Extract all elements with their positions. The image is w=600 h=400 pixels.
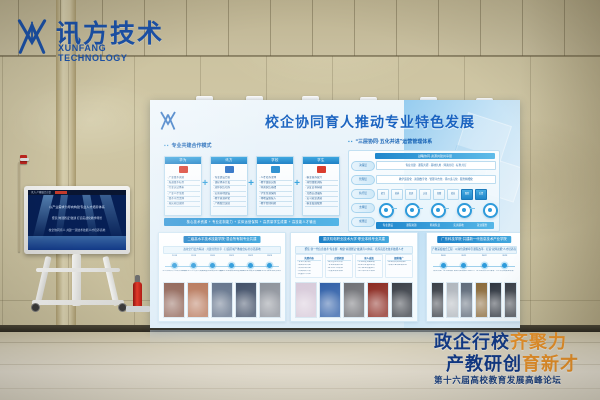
case-column-item: · 质量评价共担 <box>297 273 321 276</box>
plus-icon: + <box>201 180 209 188</box>
case-subtitle: 聚焦“新一代信息技术”专业群 · 构建“岗课赛证”融通育人体系 · 培养高层次技… <box>295 246 413 254</box>
cooperation-model-footer: 核心技术资源 + 专业定制能力 + 实体运营保障 + 高质量学生成果 + 高技能… <box>164 218 339 226</box>
ops-footer-tabs: 专业建设课程资源师资队伍实训基地就业服务 <box>376 222 494 229</box>
timeline-year: 2019 <box>191 255 196 257</box>
stand-base-bar <box>32 300 124 305</box>
display-screen[interactable]: 讯方·产教融合方案 以产业需求为导向构建专业人才培养体系 聚焦“岗课赛证”融通 … <box>28 190 126 250</box>
ops-chip-2: 实训 <box>405 189 417 200</box>
ops-row-label-3: 支撑层 <box>351 203 375 213</box>
wall-seam <box>312 0 313 56</box>
timeline-year: 2022 <box>248 255 253 257</box>
timeline-year: 2022 <box>482 255 487 257</box>
case-photo <box>475 282 488 318</box>
slogan-line-2: 产教研创育新才 <box>446 350 579 376</box>
bullet-dots-icon: ▪▪ <box>348 139 354 145</box>
screen-accent-block <box>55 191 67 194</box>
ops-bar-0: 专业共建 · 课程共研 · 基地共用 · 师资共培 · 标准共订 <box>376 161 496 170</box>
wall-seam <box>564 0 565 56</box>
student-icon <box>303 164 339 175</box>
timeline-node <box>191 263 196 268</box>
ops-footer-tab: 课程资源 <box>400 222 424 229</box>
ops-node-1 <box>405 203 420 218</box>
timeline-year: 2023 <box>502 255 507 257</box>
case-timeline: 2020校企共建产业学院揭牌2021首批共建课程上线运行2022产业学院实训中心… <box>433 255 515 277</box>
mode-column-header: 学校 <box>257 157 293 164</box>
stand-center-post <box>72 254 81 306</box>
case-photo <box>211 282 233 318</box>
ops-row-label-2: 执行层 <box>351 189 375 199</box>
timeline-year: 2021 <box>229 255 234 257</box>
screen-stage-glow <box>28 236 126 250</box>
ops-top-bar: 战略协同·资源共建共享层 <box>375 153 495 159</box>
wall-seam <box>228 0 229 56</box>
board-xunfang-logo-icon <box>158 110 178 132</box>
case-photo <box>235 282 257 318</box>
slogan-subtitle: 第十六届高校教育发展高峰论坛 <box>434 374 561 386</box>
case-subtitle: 产教深度融合工程 · 以岗位需求牵引课程改革 · 打造“双师双能”人才培养高地 <box>431 246 517 254</box>
wall-seam <box>522 0 523 56</box>
case-photo <box>431 282 444 318</box>
wall-seam <box>186 0 187 56</box>
case-column: 育人成效· 学生技能竞赛获奖· 职业认证通过率高· 对口就业质量提升· 用人单位… <box>355 254 383 278</box>
case-panel-1[interactable]: 重庆机电职业技术大学·职业本科专业共建聚焦“新一代信息技术”专业群 · 构建“岗… <box>290 232 418 322</box>
wall-seam <box>438 0 439 56</box>
case-photo <box>163 282 185 318</box>
ops-row-label-1: 管理层 <box>351 175 375 185</box>
case-photo <box>259 282 281 318</box>
case-photo <box>343 282 365 318</box>
case-photo <box>446 282 459 318</box>
mode-column-0: 华为· 产业技术资源· 先进技术标准· 行业认证体系· 产业人才生态· 技术平台… <box>164 156 202 216</box>
wall-seam <box>396 0 397 56</box>
alarm-plate <box>20 158 29 161</box>
ops-bar-1: 教学运营化 · 资源数字化 · 管理平台化 · 评价多元化 · 服务精细化 <box>376 175 496 184</box>
ops-row-label-4: 成果层 <box>351 217 375 227</box>
case-photo-strip <box>163 282 281 318</box>
timeline-node <box>172 263 177 268</box>
case-column-item: · 用人单位评价良好 <box>357 270 381 273</box>
case-photo <box>489 282 502 318</box>
case-title: 广东科技学院·共建新一代信息技术产业学院 <box>437 236 511 243</box>
fire-extinguisher-icon <box>133 282 142 308</box>
section-heading-right: ▪▪“三层协同·五化并进”运营管理体系 <box>348 138 432 145</box>
mode-item: · 产教融合运营 <box>213 202 246 207</box>
case-column: 运营机制· 联合管理委员会· 专业建设指导组· 教学运行例会制· 年度考核评估制 <box>325 254 353 278</box>
case-photo <box>504 282 517 318</box>
mode-column-3: 学生· 职业素养提升· 岗位技能训练· 认证证书获取· 竞赛实战锻炼· 实习就业… <box>302 156 340 216</box>
screen-header-text: 讯方·产教融合方案 <box>31 190 51 195</box>
screen-line-2: 聚焦“岗课赛证”融通 打造实战化教学场景 <box>28 216 126 220</box>
fire-extinguisher-base <box>126 306 150 312</box>
stand-caster-left <box>31 303 40 312</box>
ops-node-4 <box>483 203 498 218</box>
screen-title-bar: 讯方·产教融合方案 <box>28 190 126 195</box>
ops-chip-1: 培养 <box>391 189 403 200</box>
case-photo-strip <box>431 282 517 318</box>
stand-crossbar <box>36 268 120 272</box>
ops-node-3 <box>457 203 472 218</box>
ops-node-0 <box>379 203 394 218</box>
wall-seam <box>2 56 3 330</box>
wall-seam <box>270 0 271 56</box>
case-photo <box>391 282 413 318</box>
case-title: 重庆机电职业技术大学·职业本科专业共建 <box>319 236 389 243</box>
ops-row-label-0: 决策层 <box>351 161 375 171</box>
case-photo <box>460 282 473 318</box>
ops-footer-tab: 就业服务 <box>470 222 494 229</box>
ops-chip-3: 认证 <box>419 189 431 200</box>
wall-seam <box>354 0 355 56</box>
ops-node-2 <box>431 203 446 218</box>
case-photo <box>319 282 341 318</box>
wall-seam <box>480 0 481 56</box>
ops-chip-4: 竞赛 <box>433 189 445 200</box>
timeline-node <box>461 263 466 268</box>
timeline-node <box>267 263 272 268</box>
conduit-line <box>18 162 20 252</box>
timeline-node <box>229 263 234 268</box>
ops-connector <box>444 208 449 209</box>
timeline-year: 2023 <box>267 255 272 257</box>
timeline-node <box>248 263 253 268</box>
wall-logo-en: XUNFANG TECHNOLOGY <box>58 43 164 63</box>
board-title: 校企协同育人推动专业特色发展 <box>250 112 490 132</box>
case-photo <box>367 282 389 318</box>
case-title: 二级高水平技术技能学院·混合所有制专业共建 <box>184 236 261 243</box>
case-panel-0[interactable]: 二级高水平技术技能学院·混合所有制专业共建政校企行四方联动 · 共建共管共享 ·… <box>158 232 286 322</box>
case-column-item: · 形成可复制建设范式 <box>387 264 411 267</box>
mode-column-header: 华为 <box>165 157 201 164</box>
timeline-note: 毕业生对口就业率稳步提升 <box>257 270 283 277</box>
mode-item: · 职业发展规划 <box>305 202 338 207</box>
case-subtitle: 政校企行四方联动 · 共建共管共享 · 打造区域产教融合标杆示范基地 <box>163 246 281 254</box>
wall-brand-logo: 讯方技术 XUNFANG TECHNOLOGY <box>14 16 164 58</box>
case-column-item: · 年度考核评估制 <box>327 270 351 273</box>
timeline-year: 2020 <box>210 255 215 257</box>
timeline-year: 2018 <box>172 255 177 257</box>
case-photo <box>187 282 209 318</box>
case-photo-strip <box>295 282 413 318</box>
operations-system-diagram: 战略协同·资源共建共享层 决策层管理层执行层支撑层成果层专业共建 · 课程共研 … <box>348 150 500 232</box>
case-photo <box>295 282 317 318</box>
cooperation-model-diagram: 华为· 产业技术资源· 先进技术标准· 行业认证体系· 产业人才生态· 技术平台… <box>164 156 339 224</box>
school-building-icon <box>257 164 293 175</box>
wall-shadow-right <box>520 0 600 330</box>
section-heading-left: ▪▪专业共建合作模式 <box>164 142 212 149</box>
ops-footer-tab: 实训基地 <box>447 222 471 229</box>
screen-line-3: 校企协同育人 共建一流技术技能人才培养高地 <box>28 228 126 232</box>
timeline-year: 2021 <box>461 255 466 257</box>
exhibition-board[interactable]: 校企协同育人推动专业特色发展 ▪▪专业共建合作模式 ▪▪“三层协同·五化并进”运… <box>150 100 520 328</box>
case-column: 辐射推广· 经验向同类院校推广· 形成可复制建设范式 <box>385 254 413 278</box>
case-column: 共建内容· 专业方案共研· 课程体系共建· 实训环境共投· 师资团队共育· 质量… <box>295 254 323 278</box>
ops-chip-5: 就业 <box>447 189 459 200</box>
timeline-node <box>441 263 446 268</box>
ops-connector <box>392 208 397 209</box>
mode-column-header: 讯方 <box>211 157 247 164</box>
ops-connector <box>470 208 475 209</box>
mode-column-2: 学校· 人才培养主体· 教学组织实施· 师资队伍基础· 学生生源保障· 场地设施… <box>256 156 294 216</box>
timeline-year: 2020 <box>441 255 446 257</box>
plus-icon: + <box>293 180 301 188</box>
ops-footer-tab: 专业建设 <box>376 222 400 229</box>
timeline-note: 人才培养成果获表彰 <box>492 270 518 277</box>
ops-chip-7: 反馈 <box>475 189 487 200</box>
screen-line-1: 以产业需求为导向构建专业人才培养体系 <box>28 204 126 209</box>
ops-footer-tab: 师资队伍 <box>423 222 447 229</box>
interactive-display-panel[interactable]: 讯方·产教融合方案 以产业需求为导向构建专业人才培养体系 聚焦“岗课赛证”融通 … <box>24 186 130 254</box>
mode-column-header: 学生 <box>303 157 339 164</box>
ops-chip-0: 招生 <box>377 189 389 200</box>
mode-item: · 真实项目案例 <box>167 202 200 207</box>
case-columns: 共建内容· 专业方案共研· 课程体系共建· 实训环境共投· 师资团队共育· 质量… <box>295 254 413 278</box>
plus-icon: + <box>247 180 255 188</box>
bullet-dots-icon: ▪▪ <box>164 143 170 149</box>
wall-seam <box>530 56 531 330</box>
case-timeline: 2018签订战略合作协议启动共建2019完成专业人才培养方案修订2020实训基地… <box>165 255 279 277</box>
mode-item: · 教学管理机制 <box>259 202 292 207</box>
event-slogan: 政企行校齐聚力 产教研创育新才 第十六届高校教育发展高峰论坛 <box>428 328 596 394</box>
photo-scene: 讯方技术 XUNFANG TECHNOLOGY 校企协同育人推动专业特色发展 ▪… <box>0 0 600 400</box>
huawei-flower-icon <box>165 164 201 175</box>
xunfang-x-icon <box>211 164 247 175</box>
timeline-node <box>482 263 487 268</box>
case-panel-2[interactable]: 广东科技学院·共建新一代信息技术产业学院产教深度融合工程 · 以岗位需求牵引课程… <box>426 232 520 322</box>
xunfang-x-logo-icon <box>14 18 50 56</box>
ops-chip-6: 跟踪 <box>461 189 473 200</box>
timeline-node <box>210 263 215 268</box>
ops-connector <box>418 208 423 209</box>
timeline-node <box>502 263 507 268</box>
mode-column-1: 讯方· 专业建设方案· 课程体系开发· 双师队伍培养· 实训基地建设· 教学资源… <box>210 156 248 216</box>
